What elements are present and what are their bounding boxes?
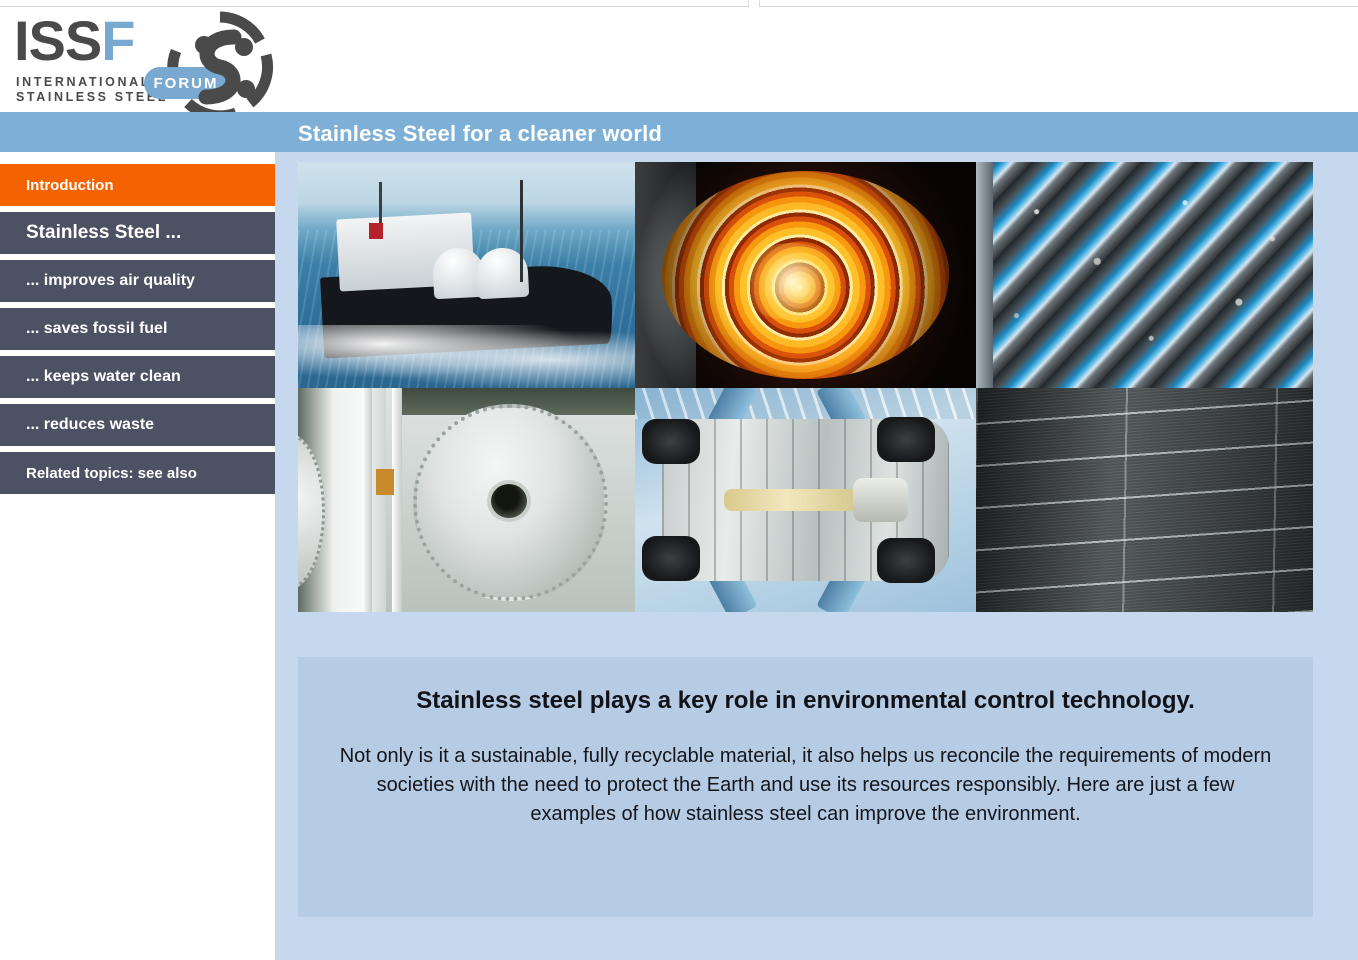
car-wheel <box>877 417 935 462</box>
workshop-ceiling <box>635 388 976 419</box>
tank-access-port <box>487 480 531 522</box>
tank-support-pillar <box>362 388 372 612</box>
sidebar-item-label: ... keeps water clean <box>26 368 181 386</box>
tank-support-pillar <box>392 388 402 612</box>
ship-mast <box>520 180 523 282</box>
ship-mast <box>379 182 382 227</box>
sidebar-item-related-topics[interactable]: Related topics: see also <box>0 452 275 494</box>
gallery-image-car-underbody-exhaust <box>635 388 976 612</box>
gallery-image-dark-panel-facade <box>976 388 1313 612</box>
page-root: ISSF INTERNATIONAL STAINLESS STEEL FORUM <box>0 0 1358 960</box>
sidebar-item-label: ... improves air quality <box>26 272 195 290</box>
chrome-tab-divider-2 <box>759 0 760 7</box>
issf-emblem-icon: FORUM <box>142 11 284 119</box>
ship-wake <box>298 325 635 388</box>
image-gallery <box>298 162 1313 612</box>
car-wheel <box>642 419 700 464</box>
sidebar-item-label: ... reduces waste <box>26 416 154 434</box>
gallery-image-wet-ridged-metal <box>976 162 1313 388</box>
sidebar-item-label: Stainless Steel ... <box>26 222 181 244</box>
intro-body-text: Not only is it a sustainable, fully recy… <box>332 742 1279 829</box>
sidebar-item-improves-air-quality[interactable]: ... improves air quality <box>0 260 275 302</box>
gallery-image-lng-tanker-ship <box>298 162 635 388</box>
car-wheel <box>642 536 700 581</box>
panel-lighting <box>976 388 1313 612</box>
sidebar-item-saves-fossil-fuel[interactable]: ... saves fossil fuel <box>0 308 275 350</box>
logo-wordmark: ISSF <box>14 13 134 69</box>
sidebar-item-keeps-water-clean[interactable]: ... keeps water clean <box>0 356 275 398</box>
sidebar-item-label: ... saves fossil fuel <box>26 320 167 338</box>
car-wheel <box>877 538 935 583</box>
sidebar-item-stainless-steel[interactable]: Stainless Steel ... <box>0 212 275 254</box>
muffler <box>853 478 908 523</box>
sidebar-item-introduction[interactable]: Introduction <box>0 164 275 206</box>
chrome-tab-divider-1 <box>748 0 749 7</box>
coil-vignette <box>635 162 976 388</box>
water-droplets <box>976 162 1313 388</box>
page-title-banner: Stainless Steel for a cleaner world <box>0 112 1358 152</box>
sidebar-nav: Introduction Stainless Steel ... ... imp… <box>0 152 275 960</box>
logo-wordmark-dark: ISS <box>14 9 101 72</box>
intro-text-panel: Stainless steel plays a key role in envi… <box>298 657 1313 917</box>
main-content: Stainless steel plays a key role in envi… <box>275 152 1358 960</box>
gallery-image-glowing-heating-coil <box>635 162 976 388</box>
sidebar-item-label: Related topics: see also <box>26 465 197 482</box>
sidebar-item-reduces-waste[interactable]: ... reduces waste <box>0 404 275 446</box>
issf-logo[interactable]: ISSF INTERNATIONAL STAINLESS STEEL FORUM <box>14 11 284 111</box>
gallery-image-stainless-tank-head <box>298 388 635 612</box>
site-header: ISSF INTERNATIONAL STAINLESS STEEL FORUM <box>0 7 1358 112</box>
browser-chrome-strip <box>0 0 1358 7</box>
intro-heading: Stainless steel plays a key role in envi… <box>332 685 1279 716</box>
ship-funnel-marking <box>369 223 383 239</box>
sidebar-item-label: Introduction <box>26 177 113 194</box>
tank-label-plate <box>376 469 394 495</box>
page-title: Stainless Steel for a cleaner world <box>298 121 662 147</box>
logo-wordmark-accent: F <box>101 9 134 72</box>
metal-edge <box>976 162 993 388</box>
